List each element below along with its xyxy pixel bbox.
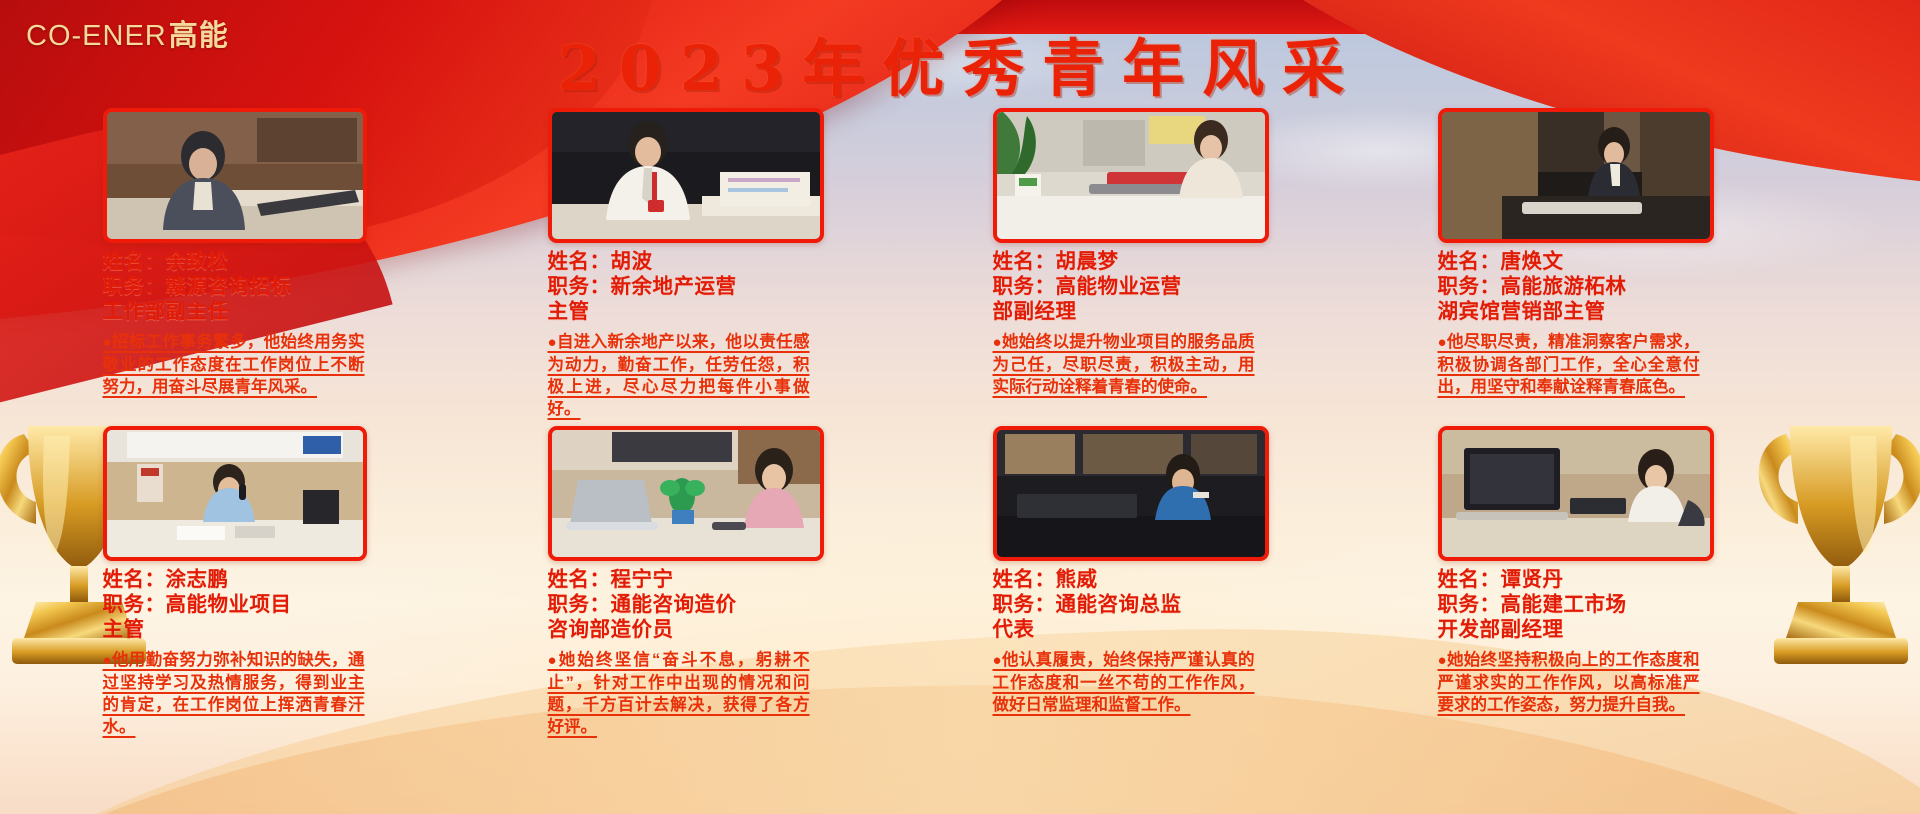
profile-meta: 姓名：谭贤丹 职务：高能建工市场 开发部副经理: [1438, 567, 1818, 642]
name-label: 姓名：: [103, 250, 166, 273]
profile-name: 熊威: [1056, 568, 1098, 591]
profile-description-text: 他认真履责，始终保持严谨认真的工作态度和一丝不苟的工作作风，做好日常监理和监督工…: [993, 651, 1255, 714]
role-label: 职务：: [1438, 275, 1501, 298]
profile-role: 高能旅游柘林: [1501, 275, 1627, 298]
profile-photo: [993, 426, 1269, 561]
profile-card[interactable]: 姓名：熊威 职务：通能咨询总监 代表 ●他认真履责，始终保持严谨认真的工作态度和…: [993, 426, 1373, 738]
profile-photo: [103, 108, 367, 243]
profile-description-text: 自进入新余地产以来，他以责任感为动力，勤奋工作，任劳任怨，积极上进，尽心尽力把每…: [548, 333, 810, 418]
profile-description-text: 他尽职尽责，精准洞察客户需求，积极协调各部门工作，全心全意付出，用坚守和奉献诠释…: [1438, 333, 1700, 396]
profile-role: 通能咨询总监: [1056, 593, 1182, 616]
bullet-icon: ●: [993, 334, 1002, 351]
profile-meta: 姓名：胡波 职务：新余地产运营 主管: [548, 249, 928, 324]
profile-card[interactable]: 姓名：胡晨梦 职务：高能物业运营 部副经理 ●她始终以提升物业项目的服务品质为己…: [993, 108, 1373, 420]
profile-description: ●自进入新余地产以来，他以责任感为动力，勤奋工作，任劳任怨，积极上进，尽心尽力把…: [548, 331, 810, 420]
profile-photo: [993, 108, 1269, 243]
profile-name: 胡波: [611, 250, 653, 273]
bullet-icon: ●: [548, 652, 559, 669]
profile-role-line-1: 职务：高能物业运营: [993, 274, 1373, 299]
profile-role-line-2: 工作部副主任: [103, 299, 483, 324]
profile-role-line-1: 职务：通能咨询总监: [993, 592, 1373, 617]
bullet-icon: ●: [993, 652, 1002, 669]
profile-photo: [548, 108, 824, 243]
profile-card[interactable]: 姓名：唐焕文 职务：高能旅游柘林 湖宾馆营销部主管 ●他尽职尽责，精准洞察客户需…: [1438, 108, 1818, 420]
profile-name-line: 姓名：涂志鹏: [103, 567, 483, 592]
profile-role: 高能物业项目: [166, 593, 292, 616]
name-label: 姓名：: [1438, 250, 1501, 273]
role-label: 职务：: [103, 275, 166, 298]
bullet-icon: ●: [103, 652, 112, 669]
profile-card[interactable]: 姓名：余致松 职务：赣源咨询招标 工作部副主任 ●招标工作事务繁多，他始终用务实…: [103, 108, 483, 420]
profile-name-line: 姓名：程宁宁: [548, 567, 928, 592]
brand-logo-latin: CO-ENER: [26, 20, 167, 52]
profile-role-line-1: 职务：赣源咨询招标: [103, 274, 483, 299]
profile-photo: [548, 426, 824, 561]
profile-role-line-1: 职务：新余地产运营: [548, 274, 928, 299]
bullet-icon: ●: [548, 334, 557, 351]
profile-meta: 姓名：程宁宁 职务：通能咨询造价 咨询部造价员: [548, 567, 928, 642]
profile-name-line: 姓名：熊威: [993, 567, 1373, 592]
profile-card[interactable]: 姓名：程宁宁 职务：通能咨询造价 咨询部造价员 ●她始终坚信“奋斗不息，躬耕不止…: [548, 426, 928, 738]
profile-meta: 姓名：胡晨梦 职务：高能物业运营 部副经理: [993, 249, 1373, 324]
profile-role-line-2: 湖宾馆营销部主管: [1438, 299, 1818, 324]
profile-description: ●招标工作事务繁多，他始终用务实敬业的工作态度在工作岗位上不断努力，用奋斗尽展青…: [103, 331, 365, 398]
profile-name-line: 姓名：谭贤丹: [1438, 567, 1818, 592]
profile-role-line-1: 职务：高能旅游柘林: [1438, 274, 1818, 299]
role-label: 职务：: [548, 593, 611, 616]
profile-name-line: 姓名：唐焕文: [1438, 249, 1818, 274]
name-label: 姓名：: [103, 568, 166, 591]
poster-canvas: CO-ENER高能 2023年优秀青年风采: [0, 0, 1920, 814]
profile-photo: [1438, 108, 1714, 243]
profile-description-text: 招标工作事务繁多，他始终用务实敬业的工作态度在工作岗位上不断努力，用奋斗尽展青年…: [103, 333, 365, 396]
role-label: 职务：: [993, 593, 1056, 616]
profile-role: 新余地产运营: [611, 275, 737, 298]
page-title: 2023年优秀青年风采: [0, 18, 1920, 108]
profile-description: ●她始终坚持积极向上的工作态度和严谨求实的工作作风，以高标准严要求的工作姿态，努…: [1438, 649, 1700, 716]
bullet-icon: ●: [103, 334, 112, 351]
role-label: 职务：: [103, 593, 166, 616]
role-label: 职务：: [548, 275, 611, 298]
brand-logo-cn: 高能: [169, 20, 229, 52]
profile-meta: 姓名：涂志鹏 职务：高能物业项目 主管: [103, 567, 483, 642]
profile-role: 高能物业运营: [1056, 275, 1182, 298]
profile-role: 通能咨询造价: [611, 593, 737, 616]
profile-name-line: 姓名：胡波: [548, 249, 928, 274]
profile-role-line-2: 主管: [103, 617, 483, 642]
profile-photo: [103, 426, 367, 561]
bullet-icon: ●: [1438, 652, 1447, 669]
brand-logo: CO-ENER高能: [26, 12, 229, 54]
profile-photo: [1438, 426, 1714, 561]
profile-description-text: 她始终坚持积极向上的工作态度和严谨求实的工作作风，以高标准严要求的工作姿态，努力…: [1438, 651, 1700, 714]
profile-role-line-1: 职务：通能咨询造价: [548, 592, 928, 617]
profile-role-line-2: 代表: [993, 617, 1373, 642]
role-label: 职务：: [993, 275, 1056, 298]
profile-description-text: 他用勤奋努力弥补知识的缺失，通过坚持学习及热情服务，得到业主的肯定，在工作岗位上…: [103, 651, 365, 736]
profile-card[interactable]: 姓名：谭贤丹 职务：高能建工市场 开发部副经理 ●她始终坚持积极向上的工作态度和…: [1438, 426, 1818, 738]
profile-description-text: 她始终坚信“奋斗不息，躬耕不止”，针对工作中出现的情况和问题，千方百计去解决，获…: [548, 651, 810, 736]
profile-role-line-2: 咨询部造价员: [548, 617, 928, 642]
profile-card[interactable]: 姓名：涂志鹏 职务：高能物业项目 主管 ●他用勤奋努力弥补知识的缺失，通过坚持学…: [103, 426, 483, 738]
profile-meta: 姓名：余致松 职务：赣源咨询招标 工作部副主任: [103, 249, 483, 324]
profile-meta: 姓名：熊威 职务：通能咨询总监 代表: [993, 567, 1373, 642]
profile-name: 胡晨梦: [1056, 250, 1119, 273]
profile-description: ●她始终坚信“奋斗不息，躬耕不止”，针对工作中出现的情况和问题，千方百计去解决，…: [548, 649, 810, 738]
profile-description: ●她始终以提升物业项目的服务品质为己任，尽职尽责，积极主动，用实际行动诠释着青春…: [993, 331, 1255, 398]
role-label: 职务：: [1438, 593, 1501, 616]
profile-description-text: 她始终以提升物业项目的服务品质为己任，尽职尽责，积极主动，用实际行动诠释着青春的…: [993, 333, 1255, 396]
profile-meta: 姓名：唐焕文 职务：高能旅游柘林 湖宾馆营销部主管: [1438, 249, 1818, 324]
profile-name: 涂志鹏: [166, 568, 229, 591]
name-label: 姓名：: [993, 568, 1056, 591]
profile-role-line-2: 开发部副经理: [1438, 617, 1818, 642]
profile-description: ●他认真履责，始终保持严谨认真的工作态度和一丝不苟的工作作风，做好日常监理和监督…: [993, 649, 1255, 716]
profile-card-grid: 姓名：余致松 职务：赣源咨询招标 工作部副主任 ●招标工作事务繁多，他始终用务实…: [0, 108, 1920, 738]
name-label: 姓名：: [548, 568, 611, 591]
profile-name: 余致松: [166, 250, 229, 273]
profile-role-line-2: 部副经理: [993, 299, 1373, 324]
name-label: 姓名：: [1438, 568, 1501, 591]
profile-name: 谭贤丹: [1501, 568, 1564, 591]
profile-role-line-1: 职务：高能物业项目: [103, 592, 483, 617]
profile-name-line: 姓名：余致松: [103, 249, 483, 274]
profile-card[interactable]: 姓名：胡波 职务：新余地产运营 主管 ●自进入新余地产以来，他以责任感为动力，勤…: [548, 108, 928, 420]
profile-role-line-2: 主管: [548, 299, 928, 324]
profile-role: 高能建工市场: [1501, 593, 1627, 616]
profile-role-line-1: 职务：高能建工市场: [1438, 592, 1818, 617]
profile-name-line: 姓名：胡晨梦: [993, 249, 1373, 274]
profile-name: 程宁宁: [611, 568, 674, 591]
profile-description: ●他尽职尽责，精准洞察客户需求，积极协调各部门工作，全心全意付出，用坚守和奉献诠…: [1438, 331, 1700, 398]
profile-name: 唐焕文: [1501, 250, 1564, 273]
profile-role: 赣源咨询招标: [166, 275, 292, 298]
profile-description: ●他用勤奋努力弥补知识的缺失，通过坚持学习及热情服务，得到业主的肯定，在工作岗位…: [103, 649, 365, 738]
name-label: 姓名：: [548, 250, 611, 273]
bullet-icon: ●: [1438, 334, 1447, 351]
name-label: 姓名：: [993, 250, 1056, 273]
